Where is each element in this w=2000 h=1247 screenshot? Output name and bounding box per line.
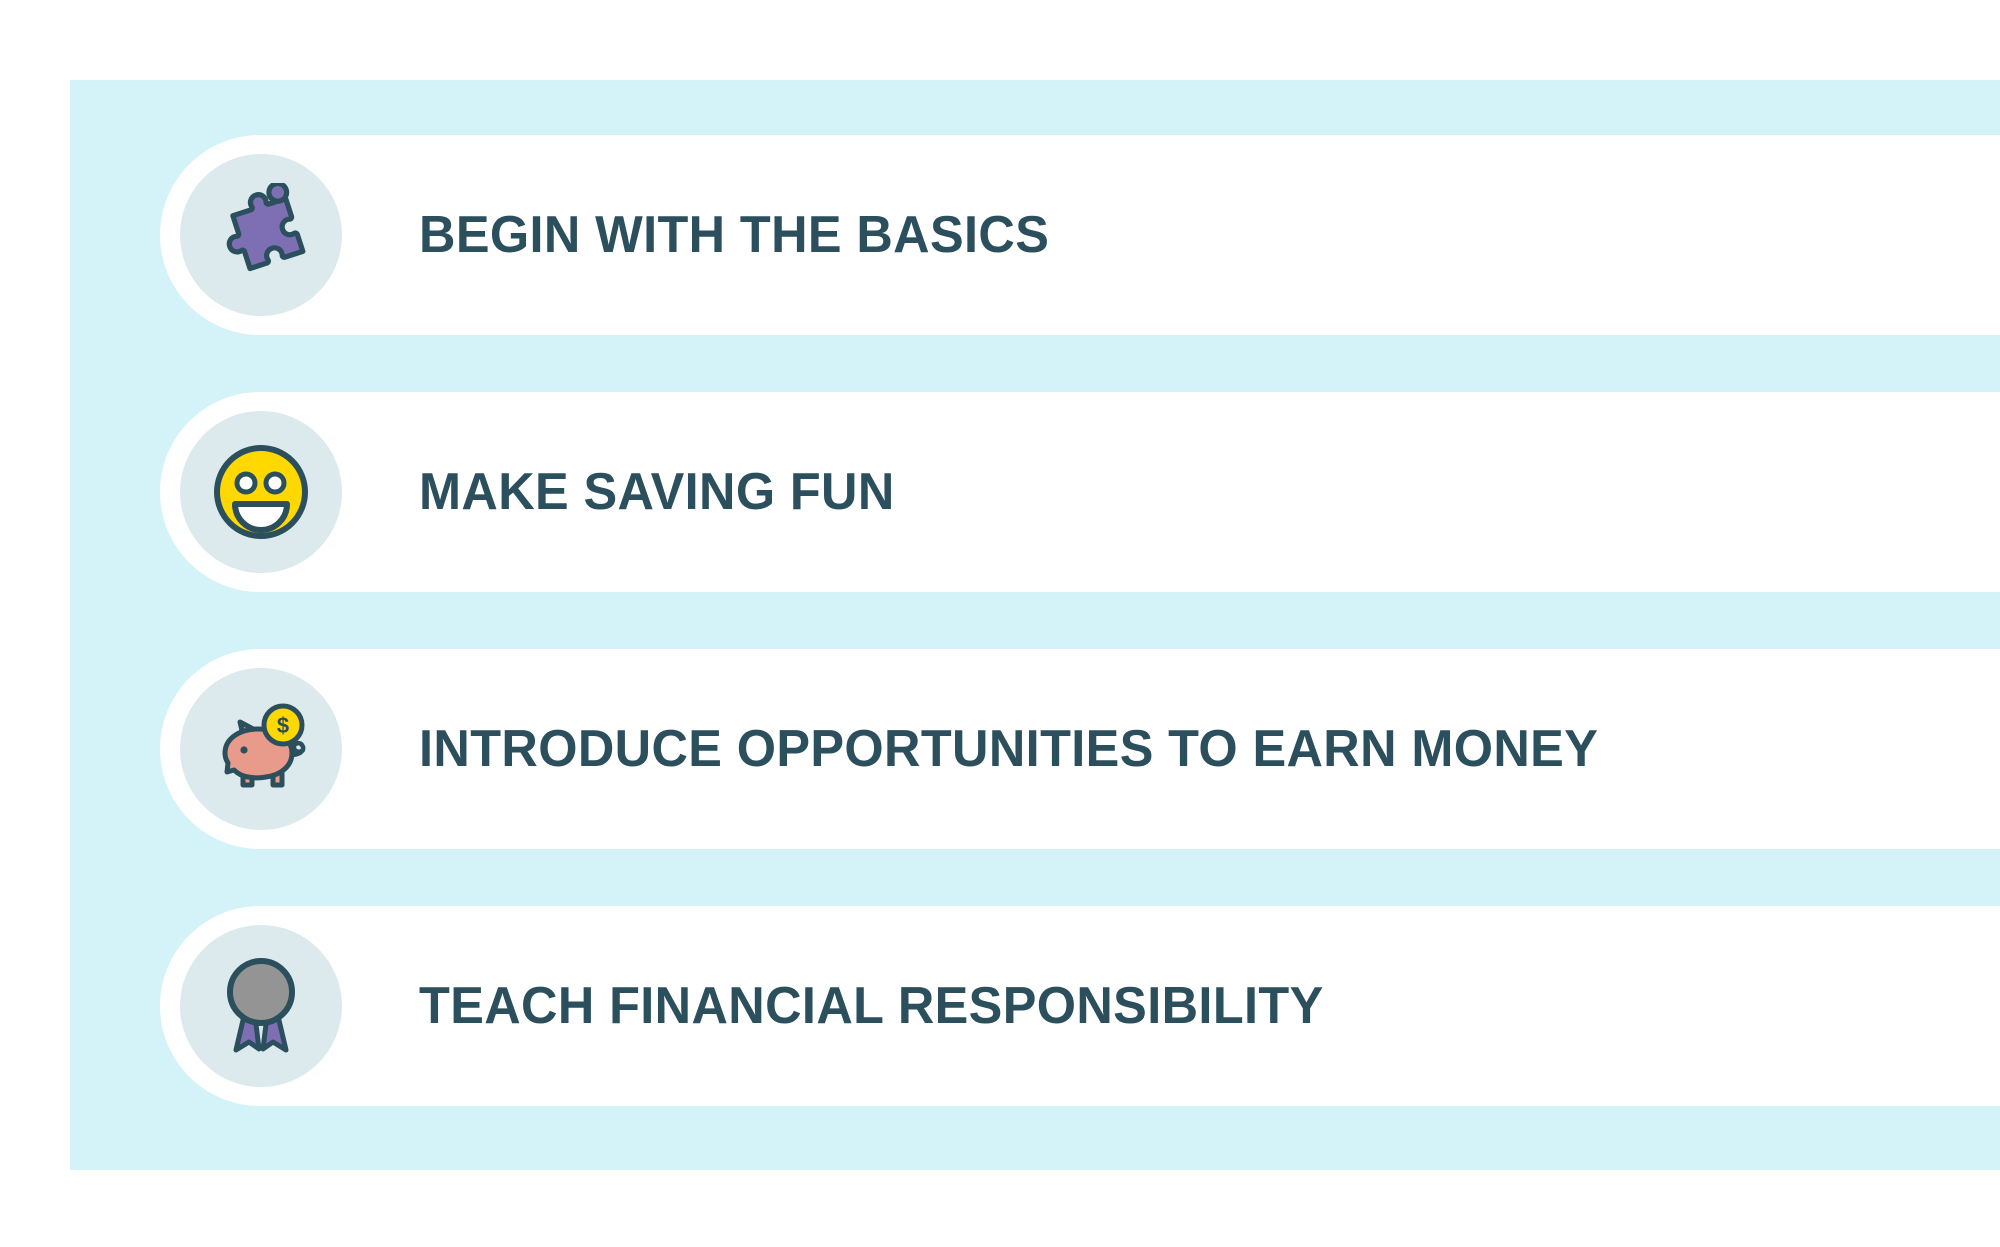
svg-text:$: $ <box>277 713 289 738</box>
list-item-label: MAKE SAVING FUN <box>419 462 895 522</box>
list-item-label: BEGIN WITH THE BASICS <box>419 205 1049 265</box>
list-item[interactable]: MAKE SAVING FUN <box>160 392 2000 592</box>
icon-badge: $ <box>180 668 342 830</box>
icon-badge <box>180 154 342 316</box>
piggy-bank-icon: $ <box>207 699 315 799</box>
infographic-root: BEGIN WITH THE BASICS MAKE SAVING FUN <box>0 0 2000 1247</box>
list-item-label: INTRODUCE OPPORTUNITIES TO EARN MONEY <box>419 719 1598 779</box>
list-container: BEGIN WITH THE BASICS MAKE SAVING FUN <box>70 80 2000 1170</box>
list-item[interactable]: $ INTRODUCE OPPORTUNITIES TO EARN MONEY <box>160 649 2000 849</box>
puzzle-piece-icon <box>209 183 313 287</box>
list-item[interactable]: BEGIN WITH THE BASICS <box>160 135 2000 335</box>
list-item-label: TEACH FINANCIAL RESPONSIBILITY <box>419 976 1324 1036</box>
icon-badge <box>180 411 342 573</box>
list-item[interactable]: TEACH FINANCIAL RESPONSIBILITY <box>160 906 2000 1106</box>
award-medal-icon <box>211 954 311 1058</box>
smiley-face-icon <box>211 442 311 542</box>
icon-badge <box>180 925 342 1087</box>
